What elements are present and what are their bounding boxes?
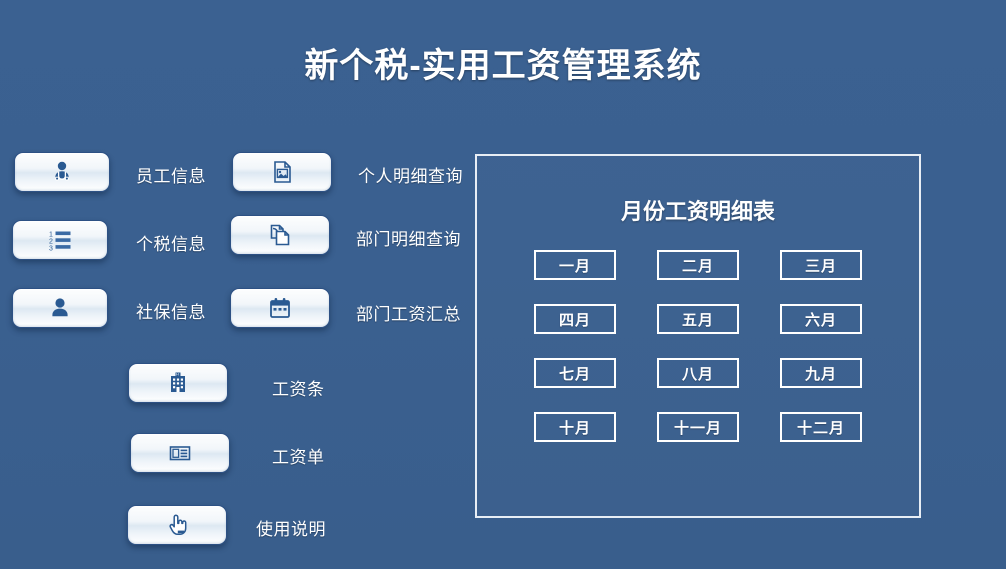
menu-label-personal-detail-query: 个人明细查询 xyxy=(358,162,463,187)
panel-title: 月份工资明细表 xyxy=(477,194,919,226)
menu-label-department-salary-summary: 部门工资汇总 xyxy=(356,300,461,325)
month-button-jul[interactable]: 七月 xyxy=(534,358,616,388)
month-button-nov[interactable]: 十一月 xyxy=(657,412,739,442)
id-card-icon xyxy=(167,440,193,466)
menu-button-employee-info[interactable] xyxy=(14,152,110,192)
month-button-may[interactable]: 五月 xyxy=(657,304,739,334)
month-button-sep[interactable]: 九月 xyxy=(780,358,862,388)
month-button-mar[interactable]: 三月 xyxy=(780,250,862,280)
month-button-jan[interactable]: 一月 xyxy=(534,250,616,280)
menu-label-department-detail-query: 部门明细查询 xyxy=(356,225,461,250)
application-root: 新个税-实用工资管理系统 员工信息 1 2 3 个税信息 xyxy=(0,0,1006,569)
menu-label-instructions: 使用说明 xyxy=(256,515,326,540)
month-button-feb[interactable]: 二月 xyxy=(657,250,739,280)
numbered-list-icon: 1 2 3 xyxy=(47,227,73,253)
menu-button-payslip[interactable]: H xyxy=(128,363,228,403)
menu-button-tax-info[interactable]: 1 2 3 xyxy=(12,220,108,260)
user-silhouette-icon xyxy=(47,295,73,321)
menu-label-social-insurance-info: 社保信息 xyxy=(136,298,206,323)
employee-person-icon xyxy=(49,159,75,185)
menu-label-salary-sheet: 工资单 xyxy=(272,443,325,468)
menu-button-social-insurance-info[interactable] xyxy=(12,288,108,328)
month-button-aug[interactable]: 八月 xyxy=(657,358,739,388)
menu-button-personal-detail-query[interactable] xyxy=(232,152,332,192)
menu-button-department-salary-summary[interactable] xyxy=(230,288,330,328)
menu-label-tax-info: 个税信息 xyxy=(136,230,206,255)
page-title: 新个税-实用工资管理系统 xyxy=(0,38,1006,87)
document-image-icon xyxy=(269,159,295,185)
month-button-jun[interactable]: 六月 xyxy=(780,304,862,334)
building-icon: H xyxy=(165,370,191,396)
copy-pages-icon xyxy=(267,222,293,248)
month-button-dec[interactable]: 十二月 xyxy=(780,412,862,442)
svg-text:H: H xyxy=(176,372,179,377)
month-button-apr[interactable]: 四月 xyxy=(534,304,616,334)
menu-button-department-detail-query[interactable] xyxy=(230,215,330,255)
monthly-salary-panel: 月份工资明细表 一月 二月 三月 四月 五月 六月 七月 八月 九月 十月 十一… xyxy=(475,154,921,518)
menu-label-payslip: 工资条 xyxy=(272,375,325,400)
month-button-grid: 一月 二月 三月 四月 五月 六月 七月 八月 九月 十月 十一月 十二月 xyxy=(477,250,919,442)
svg-text:3: 3 xyxy=(49,246,53,253)
calendar-icon xyxy=(267,295,293,321)
svg-text:2: 2 xyxy=(49,239,53,246)
month-button-oct[interactable]: 十月 xyxy=(534,412,616,442)
svg-text:1: 1 xyxy=(49,232,53,239)
menu-button-salary-sheet[interactable] xyxy=(130,433,230,473)
menu-button-instructions[interactable] xyxy=(127,505,227,545)
pointing-hand-icon xyxy=(164,512,190,538)
menu-label-employee-info: 员工信息 xyxy=(136,162,206,187)
